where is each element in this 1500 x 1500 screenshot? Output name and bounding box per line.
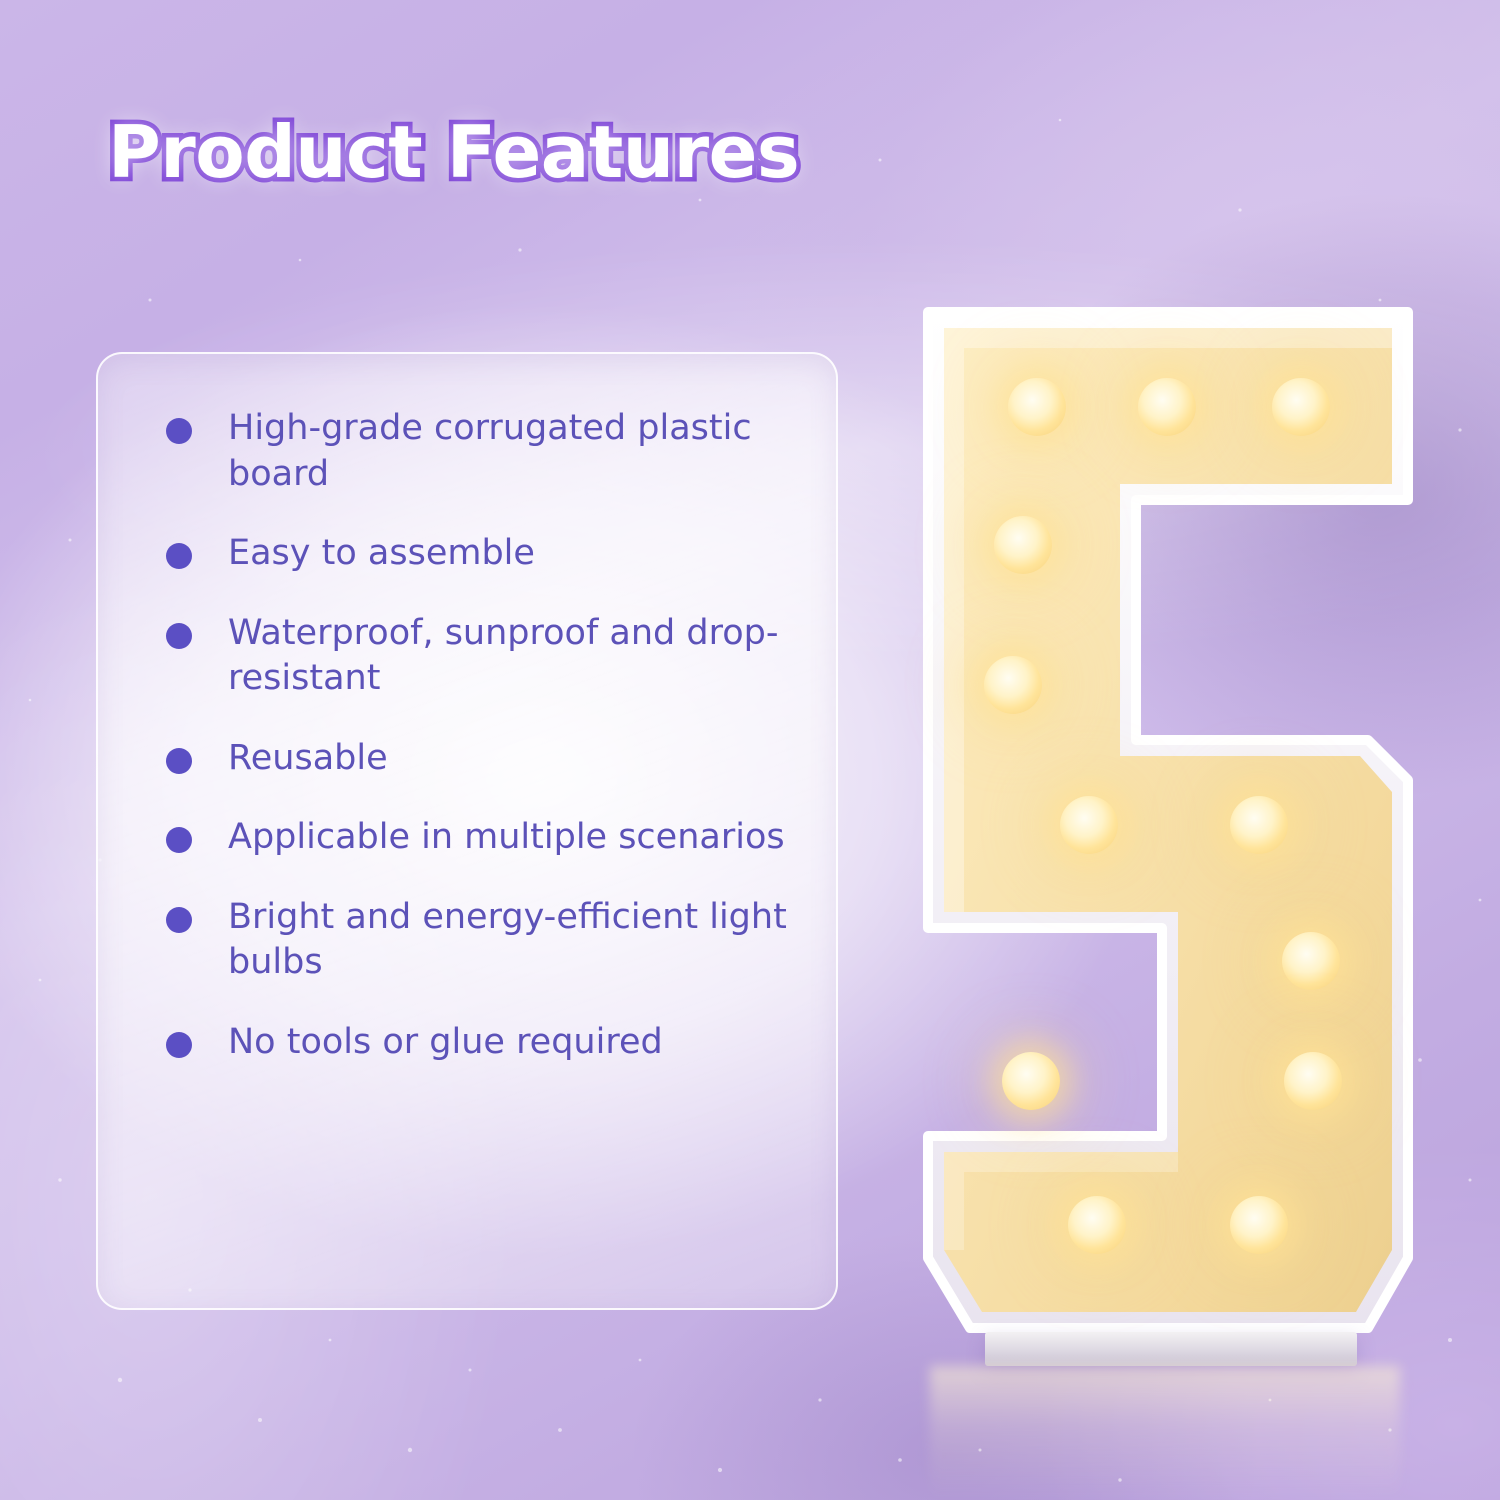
light-bulb (1230, 1196, 1288, 1254)
light-bulb (1272, 378, 1330, 436)
light-bulb (1068, 1196, 1126, 1254)
light-bulb (994, 516, 1052, 574)
bullet-icon (166, 827, 192, 853)
bullet-icon (166, 748, 192, 774)
list-item: High-grade corrugated plastic board (142, 406, 796, 497)
bullet-icon (166, 907, 192, 933)
bullet-icon (166, 623, 192, 649)
light-bulb (984, 656, 1042, 714)
bullet-icon (166, 543, 192, 569)
feature-label: No tools or glue required (228, 1020, 663, 1066)
product-base-stand (985, 1332, 1357, 1366)
list-item: Easy to assemble (142, 531, 796, 577)
list-item: Applicable in multiple scenarios (142, 815, 796, 861)
product-reflection (930, 1366, 1400, 1500)
bullet-icon (166, 418, 192, 444)
light-bulb (1060, 796, 1118, 854)
feature-label: Bright and energy-efficient light bulbs (228, 895, 796, 986)
page-title: Product Features (108, 110, 799, 194)
list-item: Waterproof, sunproof and drop-resistant (142, 611, 796, 702)
list-item: Reusable (142, 736, 796, 782)
light-bulb (1138, 378, 1196, 436)
feature-label: Waterproof, sunproof and drop-resistant (228, 611, 796, 702)
marquee-number-product (900, 288, 1440, 1388)
feature-label: Easy to assemble (228, 531, 535, 577)
light-bulb (1284, 1052, 1342, 1110)
bullet-icon (166, 1032, 192, 1058)
feature-label: Reusable (228, 736, 388, 782)
light-bulb (1002, 1052, 1060, 1110)
light-bulb (1282, 932, 1340, 990)
feature-label: Applicable in multiple scenarios (228, 815, 785, 861)
marquee-digit-shape (900, 288, 1440, 1388)
light-bulb (1008, 378, 1066, 436)
light-bulb (1230, 796, 1288, 854)
features-card: High-grade corrugated plastic board Easy… (96, 352, 838, 1310)
list-item: Bright and energy-efficient light bulbs (142, 895, 796, 986)
feature-label: High-grade corrugated plastic board (228, 406, 796, 497)
list-item: No tools or glue required (142, 1020, 796, 1066)
